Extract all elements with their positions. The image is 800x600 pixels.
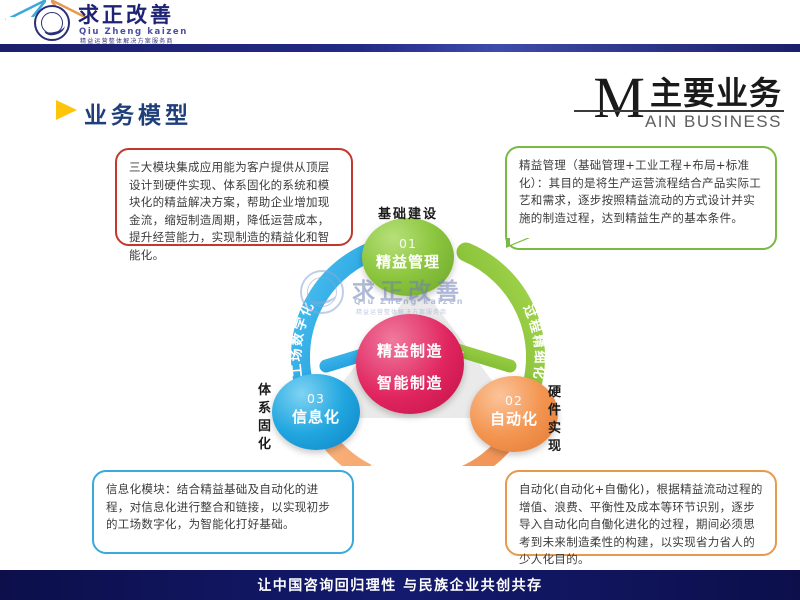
watermark-tagline: 精益运营整体解决方案服务商 — [356, 307, 447, 316]
diagram-node-automation[interactable]: 02 自动化 — [470, 376, 558, 452]
arrow-bullet-icon — [56, 100, 77, 120]
section-letter: M — [593, 72, 645, 124]
watermark-pinyin: Qiu Zheng kaizen — [354, 297, 464, 306]
diagram-node-informatization[interactable]: 03 信息化 — [272, 374, 360, 450]
callout-blue: 信息化模块：结合精益基础及自动化的进程，对信息化进行整合和链接，以实现初步的工场… — [92, 470, 354, 554]
header-rule-highlight — [0, 52, 800, 55]
center-label-line1: 精益制造 — [356, 340, 464, 361]
section-title-en: AIN BUSINESS — [645, 112, 782, 132]
callout-orange: 自动化(自动化+自働化)，根据精益流动过程的增值、浪费、平衡性及成本等环节识别，… — [505, 470, 777, 556]
outer-label-left: 体系固化 — [258, 382, 273, 454]
section-title-cn: 主要业务 — [650, 74, 782, 112]
logo-circle-icon — [34, 5, 70, 41]
center-label-line2: 智能制造 — [356, 372, 464, 393]
watermark-swoosh-icon — [310, 287, 338, 305]
footer-slogan: 让中国咨询回归理性 与民族企业共创共存 — [0, 570, 800, 600]
page-title: 业务模型 — [84, 96, 192, 130]
header-rule — [0, 44, 800, 52]
watermark-circle-icon — [300, 270, 344, 314]
business-model-diagram: 工场数字化 过程精细化 生产少人化 工场数字化 过程精细化 生产少人化 01 精… — [252, 196, 584, 466]
company-logo: 求正改善 Qiu Zheng kaizen 精益运营整体解决方案服务商 — [34, 2, 214, 44]
outer-label-top: 基础建设 — [378, 203, 438, 222]
arc-label-right-text: 过程精细化 — [520, 302, 548, 382]
logo-swoosh-icon — [43, 20, 66, 37]
node-number-02: 02 — [470, 393, 558, 408]
slide-canvas: 求正改善 Qiu Zheng kaizen 精益运营整体解决方案服务商 业务模型… — [0, 0, 800, 600]
outer-label-right: 硬件实现 — [548, 384, 563, 456]
logo-tagline: 精益运营整体解决方案服务商 — [80, 36, 174, 45]
node-number-03: 03 — [272, 391, 360, 406]
node-label-03: 信息化 — [272, 406, 360, 427]
node-label-01: 精益管理 — [362, 251, 454, 272]
node-number-01: 01 — [362, 236, 454, 251]
logo-chinese-name: 求正改善 — [78, 4, 174, 26]
node-label-02: 自动化 — [470, 408, 558, 429]
arc-label-bottom-text: 生产少人化 — [363, 462, 438, 466]
diagram-watermark: 求正改善 Qiu Zheng kaizen 精益运营整体解决方案服务商 — [300, 272, 520, 332]
